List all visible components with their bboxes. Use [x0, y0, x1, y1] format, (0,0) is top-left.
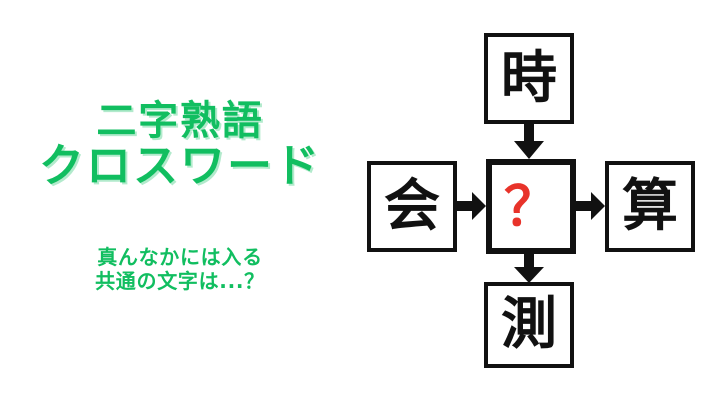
- arrow-down-icon: [512, 124, 546, 160]
- subtitle-line-2: 共通の文字は...？: [0, 270, 360, 294]
- arrow-right-icon: [457, 190, 487, 222]
- title-block: 二字熟語 クロスワード: [0, 100, 360, 190]
- kanji-crossword-diagram: 時 会 ？ 算 測: [360, 0, 720, 405]
- puzzle-cell-top: 時: [484, 33, 574, 124]
- puzzle-cell-left: 会: [367, 161, 457, 252]
- arrow-right-icon: [576, 190, 606, 222]
- puzzle-cell-center-char: ？: [504, 180, 558, 234]
- title-line-2: クロスワード: [0, 142, 360, 190]
- title-line-1: 二字熟語: [0, 100, 360, 142]
- puzzle-cell-bottom: 測: [484, 282, 574, 368]
- puzzle-cell-bottom-char: 測: [501, 297, 557, 353]
- subtitle-block: 真んなかには入る 共通の文字は...？: [0, 246, 360, 293]
- puzzle-cell-left-char: 会: [384, 179, 440, 235]
- puzzle-cell-right-char: 算: [622, 179, 678, 235]
- arrow-down-icon: [512, 254, 546, 284]
- puzzle-graphic-canvas: 二字熟語 クロスワード 真んなかには入る 共通の文字は...？ 時 会 ？ 算 …: [0, 0, 720, 405]
- puzzle-cell-right: 算: [605, 161, 695, 252]
- puzzle-cell-center-answer: ？: [486, 159, 576, 254]
- puzzle-cell-top-char: 時: [501, 51, 557, 107]
- subtitle-line-1: 真んなかには入る: [0, 246, 360, 270]
